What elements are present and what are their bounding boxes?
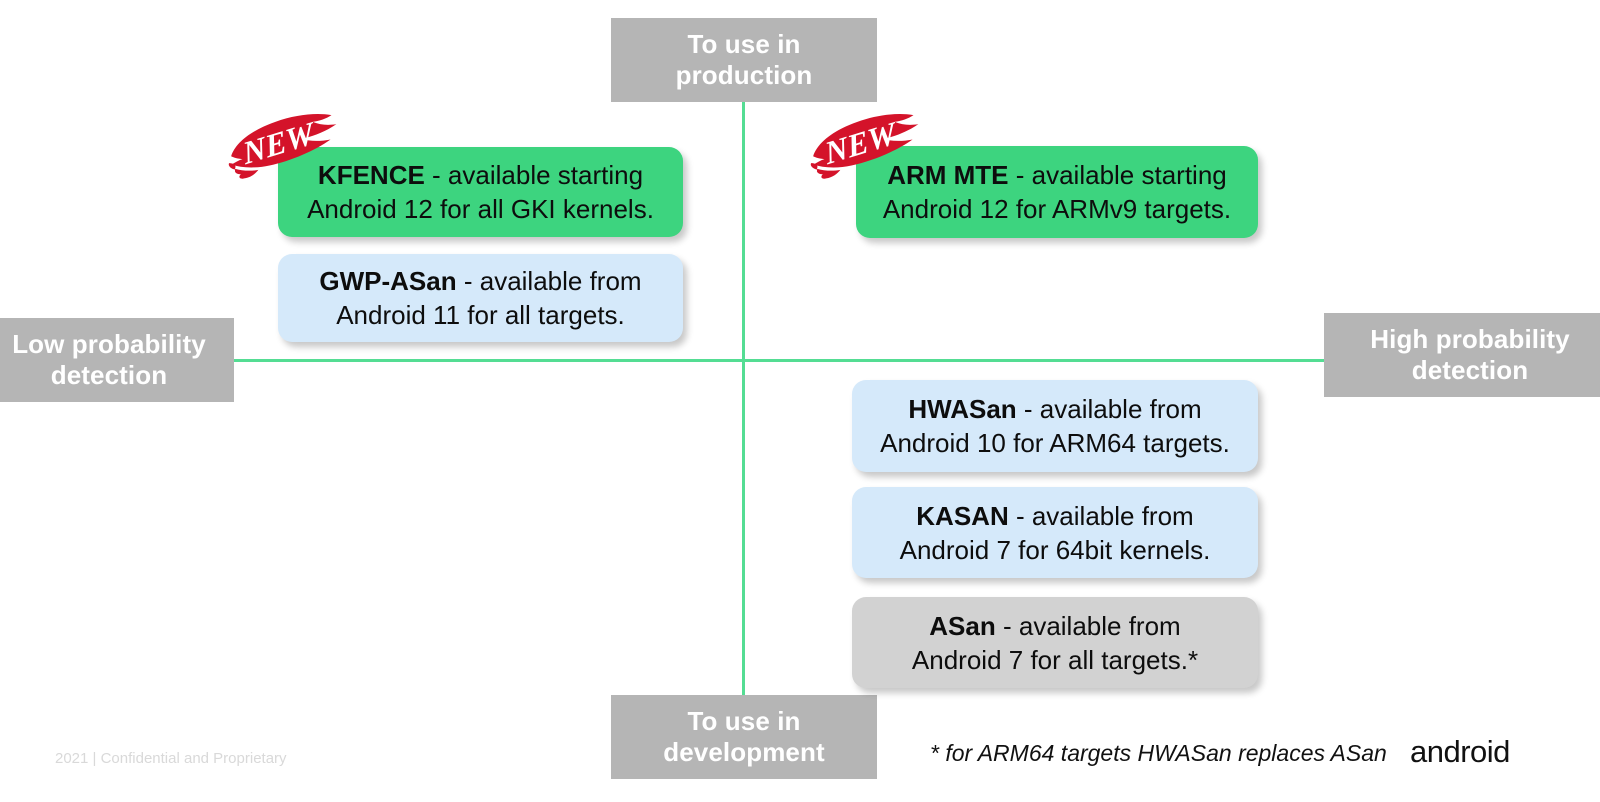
card-kfence-line2: Android 12 for all GKI kernels. <box>307 194 654 224</box>
card-asan-line2: Android 7 for all targets.* <box>912 645 1198 675</box>
card-kfence-tech: KFENCE <box>318 160 425 190</box>
card-asan: ASan - available from Android 7 for all … <box>852 597 1258 688</box>
card-kasan: KASAN - available from Android 7 for 64b… <box>852 487 1258 578</box>
card-arm-mte: ARM MTE - available starting Android 12 … <box>856 146 1258 238</box>
card-gwp-asan-text: GWP-ASan - available from Android 11 for… <box>319 264 641 332</box>
axis-plate-bottom: To use indevelopment <box>611 695 877 779</box>
card-kasan-text: KASAN - available from Android 7 for 64b… <box>900 499 1211 567</box>
card-hwasan-text: HWASan - available from Android 10 for A… <box>880 392 1230 460</box>
card-kfence-text: KFENCE - available starting Android 12 f… <box>307 158 654 226</box>
horizontal-axis-line <box>233 359 1325 362</box>
card-kasan-rest: - available from <box>1009 501 1194 531</box>
card-hwasan-tech: HWASan <box>908 394 1016 424</box>
axis-plate-left: Low probabilitydetection <box>0 318 234 402</box>
slide-canvas: To use inproduction To use indevelopment… <box>0 0 1600 802</box>
android-logo: android <box>1410 735 1520 769</box>
card-arm-mte-line2: Android 12 for ARMv9 targets. <box>883 194 1231 224</box>
vertical-axis-line <box>742 101 745 695</box>
footnote-text: * for ARM64 targets HWASan replaces ASan <box>930 740 1387 767</box>
axis-plate-top-label: To use inproduction <box>676 29 813 91</box>
card-gwp-asan-rest: - available from <box>457 266 642 296</box>
card-gwp-asan: GWP-ASan - available from Android 11 for… <box>278 254 683 342</box>
axis-plate-top: To use inproduction <box>611 18 877 102</box>
card-kasan-line2: Android 7 for 64bit kernels. <box>900 535 1211 565</box>
card-asan-tech: ASan <box>929 611 995 641</box>
card-asan-rest: - available from <box>996 611 1181 641</box>
card-arm-mte-text: ARM MTE - available starting Android 12 … <box>883 158 1231 226</box>
card-kfence: KFENCE - available starting Android 12 f… <box>278 147 683 237</box>
card-arm-mte-tech: ARM MTE <box>887 160 1008 190</box>
android-logo-text: android <box>1410 735 1510 769</box>
axis-plate-right: High probabilitydetection <box>1324 313 1600 397</box>
axis-plate-left-label: Low probabilitydetection <box>12 329 206 391</box>
card-asan-text: ASan - available from Android 7 for all … <box>912 609 1198 677</box>
card-kfence-rest: - available starting <box>425 160 643 190</box>
card-gwp-asan-tech: GWP-ASan <box>319 266 456 296</box>
card-kasan-tech: KASAN <box>916 501 1008 531</box>
card-arm-mte-rest: - available starting <box>1009 160 1227 190</box>
copyright-text: 2021 | Confidential and Proprietary <box>55 750 287 767</box>
card-hwasan: HWASan - available from Android 10 for A… <box>852 380 1258 472</box>
card-gwp-asan-line2: Android 11 for all targets. <box>336 300 625 330</box>
card-hwasan-line2: Android 10 for ARM64 targets. <box>880 428 1230 458</box>
card-hwasan-rest: - available from <box>1017 394 1202 424</box>
axis-plate-bottom-label: To use indevelopment <box>663 706 824 768</box>
axis-plate-right-label: High probabilitydetection <box>1370 324 1569 386</box>
